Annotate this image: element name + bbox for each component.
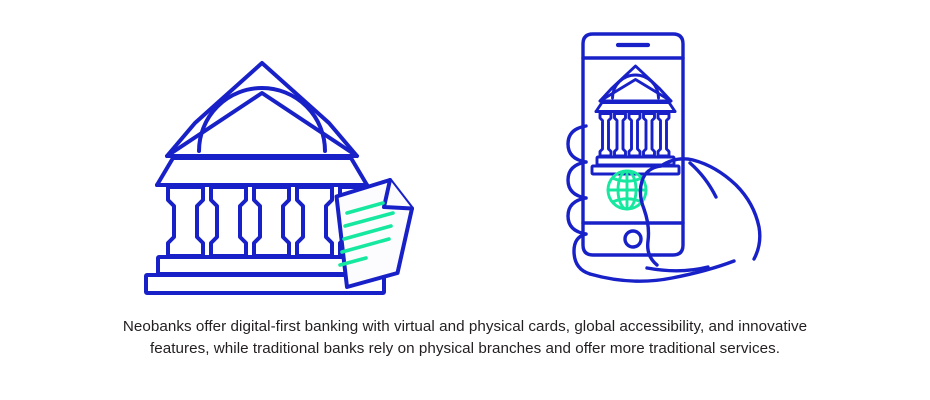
bank-pediment-icon: [167, 63, 357, 156]
illustration-row: [0, 0, 930, 300]
bank-column: [168, 187, 203, 256]
bank-column: [254, 187, 289, 256]
caption-line-1: Neobanks offer digital-first banking wit…: [65, 316, 865, 338]
caption-line-2: features, while traditional banks rely o…: [65, 338, 865, 360]
caption-text: Neobanks offer digital-first banking wit…: [65, 316, 865, 360]
hand-palm: [590, 261, 734, 281]
traditional-bank-illustration: [140, 30, 430, 290]
bank-column: [297, 187, 332, 256]
document-icon: [337, 180, 413, 287]
bank-dome-icon: [199, 88, 325, 151]
bank-column: [211, 187, 246, 256]
infographic-page: Neobanks offer digital-first banking wit…: [0, 0, 930, 400]
bank-entablature: [157, 158, 367, 185]
neobank-phone-illustration: [540, 25, 790, 300]
